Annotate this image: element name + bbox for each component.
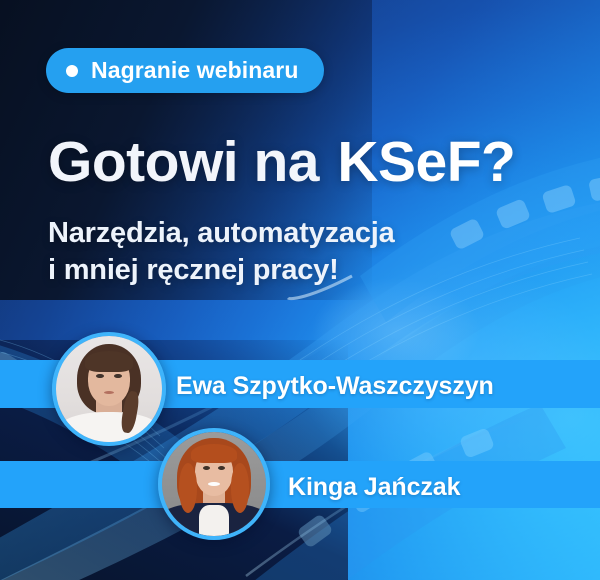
subtitle-line-2: i mniej ręcznej pracy! bbox=[48, 252, 395, 289]
subtitle-line-1: Narzędzia, automatyzacja bbox=[48, 215, 395, 252]
page-title: Gotowi na KSeF? bbox=[48, 132, 518, 192]
webinar-recording-badge[interactable]: Nagranie webinaru bbox=[46, 48, 324, 93]
dot-icon bbox=[66, 65, 78, 77]
speaker-photo-kinga bbox=[162, 432, 266, 536]
speaker-name-2: Kinga Jańczak bbox=[288, 473, 460, 502]
speaker-name-1: Ewa Szpytko-Waszczyszyn bbox=[176, 372, 494, 401]
subtitle: Narzędzia, automatyzacja i mniej ręcznej… bbox=[48, 215, 395, 289]
headline-plain: Gotowi na bbox=[48, 130, 334, 194]
headline-highlight: KSeF? bbox=[334, 132, 518, 192]
webinar-banner: Nagranie webinaru Gotowi na KSeF? Narzęd… bbox=[0, 0, 600, 580]
badge-label: Nagranie webinaru bbox=[91, 57, 298, 84]
avatar bbox=[158, 428, 270, 540]
speaker-photo-ewa bbox=[56, 336, 162, 442]
avatar bbox=[52, 332, 166, 446]
